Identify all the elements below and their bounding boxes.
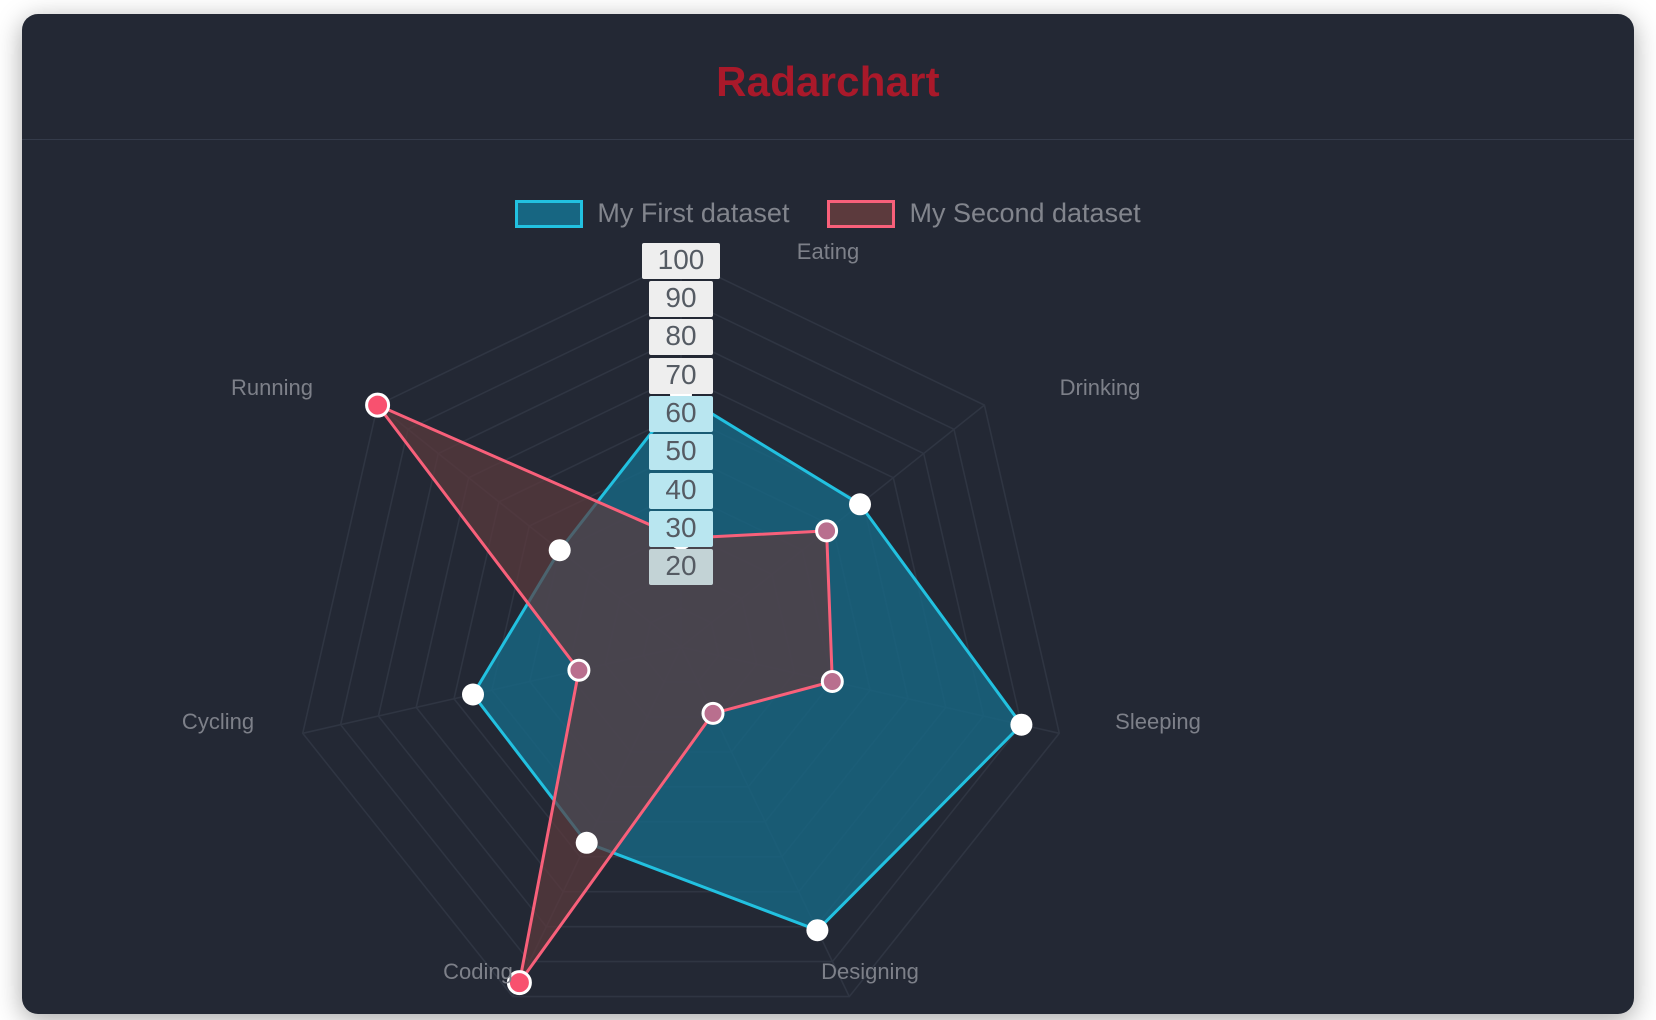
tick-label: 60 [649, 396, 713, 432]
axis-label-cycling: Cycling [182, 709, 254, 735]
legend-item-label: My First dataset [597, 198, 789, 229]
data-point[interactable] [367, 394, 389, 416]
page-title: Radarchart [22, 58, 1634, 106]
data-point[interactable] [806, 919, 828, 941]
data-point[interactable] [462, 684, 484, 706]
data-point[interactable] [822, 672, 842, 692]
angle-line [681, 405, 984, 647]
series-area [473, 395, 1021, 930]
data-point[interactable] [817, 521, 837, 541]
data-point[interactable] [569, 660, 589, 680]
grid-ring [605, 569, 756, 717]
legend-swatch-icon [827, 200, 895, 228]
data-point[interactable] [849, 493, 871, 515]
series-area [378, 405, 833, 983]
tick-label: 40 [649, 473, 713, 509]
tick-label: 20 [649, 549, 713, 585]
data-point[interactable] [703, 703, 723, 723]
radar-chart-canvas[interactable] [22, 14, 1634, 1014]
angle-line [681, 647, 849, 997]
data-point[interactable] [1010, 714, 1032, 736]
tick-label: 50 [649, 434, 713, 470]
legend-item-first-dataset[interactable]: My First dataset [515, 198, 789, 229]
data-point[interactable] [549, 539, 571, 561]
chart-card: Radarchart My First dataset My Second da… [22, 14, 1634, 1014]
angle-line [378, 405, 681, 647]
angle-line [303, 647, 681, 733]
angle-line [513, 647, 681, 997]
legend-item-second-dataset[interactable]: My Second dataset [827, 198, 1140, 229]
tick-label: 70 [649, 358, 713, 394]
tick-label: 80 [649, 319, 713, 355]
axis-label-designing: Designing [821, 959, 919, 985]
tick-label: 90 [649, 281, 713, 317]
tick-label: 30 [649, 511, 713, 547]
legend-item-label: My Second dataset [909, 198, 1140, 229]
axis-label-drinking: Drinking [1060, 375, 1141, 401]
axis-label-coding: Coding [443, 959, 513, 985]
card-header: Radarchart [22, 14, 1634, 140]
data-point[interactable] [368, 395, 388, 415]
tick-label: 100 [642, 243, 720, 279]
axis-label-running: Running [231, 375, 313, 401]
grid-ring [643, 608, 719, 682]
legend-swatch-icon [515, 200, 583, 228]
axis-label-eating: Eating [797, 239, 859, 265]
axis-label-sleeping: Sleeping [1115, 709, 1201, 735]
data-point[interactable] [576, 832, 598, 854]
page-root: Radarchart My First dataset My Second da… [0, 0, 1656, 1020]
chart-legend: My First dataset My Second dataset [22, 198, 1634, 229]
angle-line [681, 647, 1059, 733]
